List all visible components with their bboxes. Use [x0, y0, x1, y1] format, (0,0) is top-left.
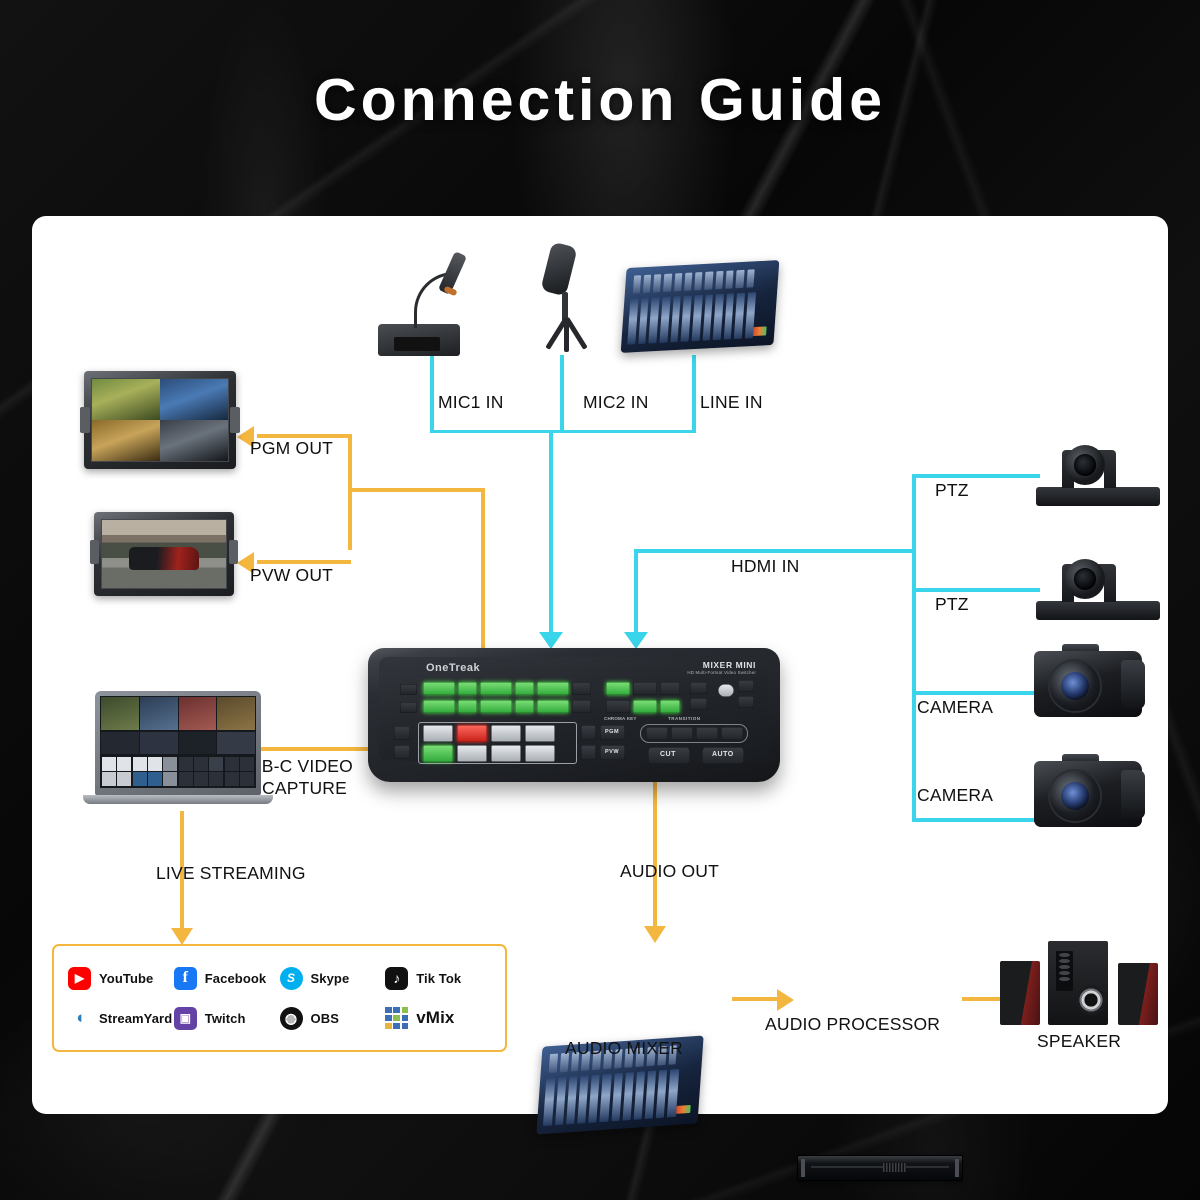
vmix-icon — [385, 1007, 408, 1030]
sw-source-button[interactable] — [423, 700, 455, 713]
sw-source-button[interactable] — [537, 682, 569, 695]
sw-pvw-button-2[interactable] — [457, 745, 487, 762]
line-processor-to-speaker — [962, 997, 1004, 1001]
monitor-handle — [80, 407, 90, 433]
switcher-model: MIXER MINI HD Multi-Format Video Switche… — [687, 660, 756, 675]
line-audio-to-switcher — [549, 430, 553, 635]
tiktok-icon: ♪ — [385, 967, 408, 990]
ptz-base — [1036, 487, 1160, 506]
multiview-screen — [91, 378, 229, 462]
platform-label: OBS — [311, 1011, 339, 1026]
sw-pgm-button-1[interactable] — [423, 725, 453, 742]
rack-ear — [801, 1159, 805, 1177]
mixer-level-leds — [676, 1105, 691, 1115]
ptz-lens-head — [1065, 559, 1105, 599]
platform-streamyard[interactable]: ◖ StreamYard — [68, 1007, 174, 1030]
mixer-knob-row — [632, 269, 754, 294]
laptop-base — [83, 795, 273, 804]
sw-cut-label: CUT — [660, 751, 676, 758]
label-camera-2: CAMERA — [917, 785, 993, 806]
sw-key-button[interactable] — [606, 700, 630, 713]
multiview-pane — [160, 420, 228, 461]
sw-aux-button[interactable] — [400, 702, 417, 713]
line-pvw-out — [257, 560, 351, 564]
monitor-handle — [90, 540, 99, 564]
multiview-pane — [160, 379, 228, 420]
sw-pvw-tag-label: PVW — [605, 749, 619, 755]
sw-pvw-button-4[interactable] — [525, 745, 555, 762]
line-pgm-out-v — [348, 434, 352, 492]
sw-transition-button[interactable] — [671, 727, 693, 740]
platform-obs[interactable]: ◍ OBS — [280, 1007, 386, 1030]
label-audio-processor: AUDIO PROCESSOR — [765, 1014, 940, 1035]
gooseneck-conference-microphone — [370, 244, 482, 356]
line-pgm-out — [257, 434, 351, 438]
line-out-trunk — [348, 491, 352, 550]
youtube-icon: ▶ — [68, 967, 91, 990]
sw-key-button[interactable] — [660, 700, 680, 713]
sw-source-button[interactable] — [423, 682, 455, 695]
label-usbc-capture-line2: CAPTURE — [262, 778, 347, 799]
ptz-camera-1 — [1036, 444, 1160, 506]
arrow-audio-into-switcher — [539, 632, 563, 649]
label-pvw-out: PVW OUT — [250, 565, 333, 586]
line-hdmi-branch-cam1 — [912, 691, 1040, 695]
sw-pgm-button-2[interactable] — [457, 725, 487, 742]
sw-transition-button[interactable] — [721, 727, 743, 740]
line-mic1-drop — [430, 355, 434, 433]
label-ptz-1: PTZ — [935, 480, 969, 501]
platform-label: Twitch — [205, 1011, 246, 1026]
multiview-pane — [92, 379, 160, 420]
platform-label: Facebook — [205, 971, 266, 986]
switcher-model-name: MIXER MINI — [703, 660, 756, 670]
label-pgm-out: PGM OUT — [250, 438, 333, 459]
sw-key-button[interactable] — [633, 700, 657, 713]
sw-key-button[interactable] — [660, 682, 680, 695]
sw-aux-button[interactable] — [400, 684, 417, 695]
line-mic2-drop — [560, 355, 564, 433]
line-linein-drop — [692, 355, 696, 433]
sw-pvw-button-3[interactable] — [491, 745, 521, 762]
sw-source-button[interactable] — [458, 682, 477, 695]
sw-bus-tag[interactable] — [581, 745, 596, 760]
platform-label: Skype — [311, 971, 350, 986]
laptop-lid — [95, 691, 261, 795]
sw-bus-tag[interactable] — [581, 725, 596, 740]
platform-twitch[interactable]: ▣ Twitch — [174, 1007, 280, 1030]
sw-auto-label: AUTO — [712, 751, 734, 758]
label-speaker: SPEAKER — [1037, 1031, 1121, 1052]
sw-menu-knob[interactable] — [718, 684, 734, 697]
sw-side-button[interactable] — [394, 726, 410, 740]
laptop-multiview-row — [100, 696, 256, 731]
camera-lens — [1050, 771, 1100, 821]
label-audio-out: AUDIO OUT — [620, 861, 719, 882]
switcher-model-sub: HD Multi-Format Video Switcher — [687, 670, 756, 675]
camera-lens — [1050, 661, 1100, 711]
speaker-satellite-right — [1118, 963, 1158, 1025]
monitor-handle — [230, 407, 240, 433]
platform-youtube[interactable]: ▶ YouTube — [68, 967, 174, 990]
sw-nav-button[interactable] — [690, 698, 707, 710]
line-hdmi-branch-cam2 — [912, 818, 1040, 822]
preview-monitor — [94, 512, 234, 596]
sw-nav-button[interactable] — [690, 682, 707, 694]
sw-source-button[interactable] — [458, 700, 477, 713]
sw-pgm-tag-label: PGM — [605, 729, 619, 735]
program-multiview-monitor — [84, 371, 236, 469]
label-audio-mixer: AUDIO MIXER — [565, 1038, 683, 1059]
label-line-in: LINE IN — [700, 392, 763, 413]
platform-skype[interactable]: S Skype — [280, 967, 386, 990]
line-hdmi-branch-ptz1 — [912, 474, 1040, 478]
video-switcher[interactable]: OneTreak MIXER MINI HD Multi-Format Vide… — [368, 648, 780, 782]
rack-front-slot — [811, 1166, 949, 1168]
mixer-fader-strip — [627, 292, 756, 345]
mic-tripod-leg — [564, 318, 569, 352]
laptop-control-row — [100, 731, 256, 755]
sw-key-button[interactable] — [606, 682, 630, 695]
rack-ear — [955, 1159, 959, 1177]
rack-vents — [883, 1163, 906, 1172]
obs-icon: ◍ — [280, 1007, 303, 1030]
platform-label: Tik Tok — [416, 971, 461, 986]
sw-nav-button[interactable] — [738, 696, 754, 708]
mic-base-grille — [394, 337, 440, 351]
speaker-satellite-left — [1000, 961, 1040, 1025]
streamyard-icon: ◖ — [68, 1007, 91, 1030]
laptop-button-grid — [100, 755, 256, 788]
sw-nav-button[interactable] — [738, 680, 754, 692]
platform-label: StreamYard — [99, 1011, 172, 1026]
sw-transition-button[interactable] — [696, 727, 718, 740]
diagram-stage: MIC1 IN MIC2 IN LINE IN HDMI IN PTZ PTZ … — [32, 216, 1168, 1114]
sw-side-button[interactable] — [394, 745, 410, 759]
sw-source-button[interactable] — [480, 682, 512, 695]
platform-label: YouTube — [99, 971, 153, 986]
sw-source-button[interactable] — [480, 700, 512, 713]
camera-grip — [1121, 770, 1145, 819]
sw-source-button[interactable] — [537, 700, 569, 713]
line-mixer-to-processor — [732, 997, 779, 1001]
twitch-icon: ▣ — [174, 1007, 197, 1030]
sw-pvw-button-1[interactable] — [423, 745, 453, 762]
mixer-fader-strip — [543, 1069, 679, 1126]
platform-facebook[interactable]: f Facebook — [174, 967, 280, 990]
mirrorless-camera-1 — [1034, 651, 1142, 717]
sw-source-button[interactable] — [515, 682, 534, 695]
sw-transition-label: TRANSITION — [668, 716, 701, 721]
switcher-chromakey-label: CHROMA KEY — [604, 716, 637, 721]
label-ptz-2: PTZ — [935, 594, 969, 615]
monitor-handle — [229, 540, 238, 564]
arrow-audio-out — [644, 926, 666, 943]
multiview-pane — [92, 420, 160, 461]
streaming-laptop — [95, 691, 261, 811]
laptop-screen — [100, 696, 256, 788]
line-out-trunk-h — [348, 488, 485, 492]
ptz-camera-2 — [1036, 558, 1160, 620]
line-hdmi-trunk-drop — [634, 549, 638, 635]
preview-subject — [129, 547, 198, 570]
platform-vmix[interactable]: vMix — [385, 1007, 491, 1030]
sw-source-button[interactable] — [515, 700, 534, 713]
label-live-streaming: LIVE STREAMING — [156, 863, 306, 884]
label-camera-1: CAMERA — [917, 697, 993, 718]
sw-transition-button[interactable] — [646, 727, 668, 740]
desktop-tripod-microphone — [522, 244, 608, 356]
arrow-mixer-to-processor — [777, 989, 794, 1011]
line-hdmi-trunk — [634, 549, 915, 553]
speaker-system — [1000, 941, 1160, 1025]
page-title: Connection Guide — [0, 66, 1200, 134]
audio-processor-rack-unit — [797, 1155, 963, 1181]
speaker-control-panel — [1056, 951, 1073, 991]
sw-source-button[interactable] — [572, 682, 591, 695]
line-audio-out — [653, 782, 657, 928]
ptz-lens-head — [1065, 445, 1105, 485]
mic-head — [540, 242, 577, 297]
sw-source-button[interactable] — [572, 700, 591, 713]
label-mic1-in: MIC1 IN — [438, 392, 504, 413]
skype-icon: S — [280, 967, 303, 990]
diagram-board: MIC1 IN MIC2 IN LINE IN HDMI IN PTZ PTZ … — [32, 216, 1168, 1114]
preview-screen — [101, 519, 227, 589]
camera-grip — [1121, 660, 1145, 709]
arrow-hdmi-into-switcher — [624, 632, 648, 649]
mirrorless-camera-2 — [1034, 761, 1142, 827]
line-in-audio-mixer — [621, 260, 780, 353]
label-hdmi-in: HDMI IN — [731, 556, 799, 577]
sw-pgm-button-4[interactable] — [525, 725, 555, 742]
label-mic2-in: MIC2 IN — [583, 392, 649, 413]
line-hdmi-branch-ptz2 — [912, 588, 1040, 592]
facebook-icon: f — [174, 967, 197, 990]
ptz-base — [1036, 601, 1160, 620]
speaker-driver-ring — [1076, 985, 1106, 1015]
streaming-platforms-card: ▶ YouTube f Facebook S Skype ♪ Tik Tok ◖… — [52, 944, 507, 1052]
platform-tiktok[interactable]: ♪ Tik Tok — [385, 967, 491, 990]
arrow-live-streaming — [171, 928, 193, 945]
sw-pgm-button-3[interactable] — [491, 725, 521, 742]
platform-label: vMix — [416, 1008, 454, 1028]
line-audio-bus — [430, 430, 695, 434]
mixer-level-leds — [753, 327, 767, 336]
line-hdmi-spine — [912, 474, 916, 821]
sw-key-button[interactable] — [633, 682, 657, 695]
switcher-brand: OneTreak — [426, 662, 480, 674]
